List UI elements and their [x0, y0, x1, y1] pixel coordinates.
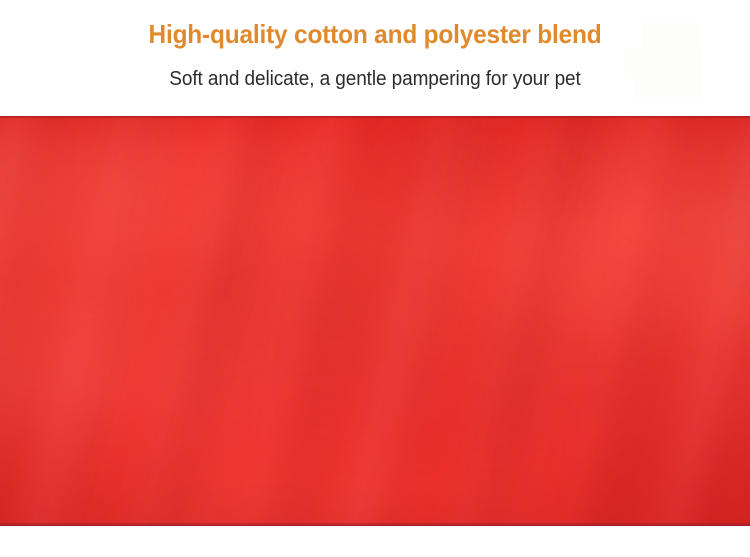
banner-header: High-quality cotton and polyester blend … [0, 0, 750, 116]
fabric-vignette [0, 116, 750, 526]
fabric-photo [0, 116, 750, 526]
product-feature-banner: High-quality cotton and polyester blend … [0, 0, 750, 557]
banner-subtitle: Soft and delicate, a gentle pampering fo… [19, 66, 732, 92]
banner-footer-space [0, 526, 750, 557]
fabric-top-edge [0, 116, 750, 119]
banner-headline: High-quality cotton and polyester blend [23, 18, 728, 50]
